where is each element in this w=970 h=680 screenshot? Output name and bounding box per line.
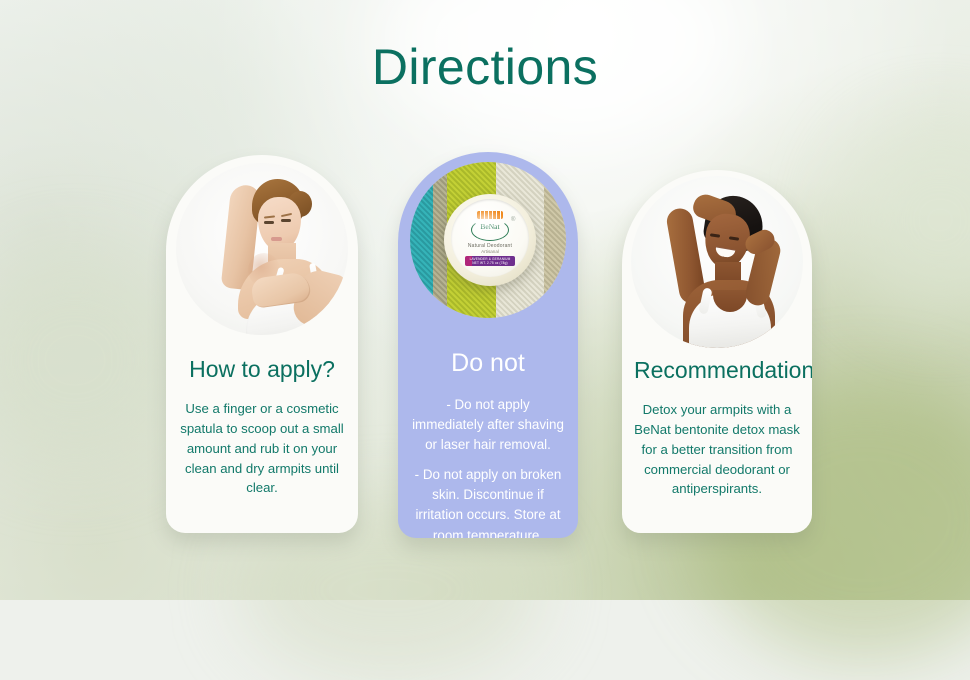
card-recommendation[interactable]: Recommendation Detox your armpits with a… xyxy=(622,170,812,533)
card-do-not[interactable]: ® BeNat Natural Deodorant Artisanal LAVE… xyxy=(398,152,578,538)
card-body-how-to-apply: How to apply? Use a finger or a cosmetic… xyxy=(166,357,358,498)
card-media-how-to-apply xyxy=(166,155,358,355)
directions-page: Directions xyxy=(0,0,970,600)
card-text: Detox your armpits with a BeNat bentonit… xyxy=(634,400,800,499)
registered-trademark-icon: ® xyxy=(511,217,515,223)
photo-eye xyxy=(281,219,291,222)
card-heading: Do not xyxy=(410,350,566,378)
card-heading: How to apply? xyxy=(178,357,346,382)
smiling-woman-photo xyxy=(631,176,803,348)
deodorant-jar-photo: ® BeNat Natural Deodorant Artisanal LAVE… xyxy=(410,162,566,318)
product-descriptor-secondary: Artisanal xyxy=(460,249,520,254)
card-text-line: - Do not apply on broken skin. Discontin… xyxy=(410,465,566,538)
mat-stripe xyxy=(410,162,433,318)
photo-eye xyxy=(264,221,274,224)
card-text-line: - Do not apply immediately after shaving… xyxy=(410,395,566,456)
photo-lips xyxy=(271,237,282,241)
card-media-do-not: ® BeNat Natural Deodorant Artisanal LAVE… xyxy=(398,152,578,348)
card-body-do-not: Do not - Do not apply immediately after … xyxy=(398,350,578,538)
card-text: - Do not apply immediately after shaving… xyxy=(410,395,566,539)
product-jar-lid: ® BeNat Natural Deodorant Artisanal LAVE… xyxy=(451,199,529,277)
jar-lid-highlight xyxy=(465,209,505,231)
card-text: Use a finger or a cosmetic spatula to sc… xyxy=(178,399,346,498)
product-label-band-text: LAVENDER & GERANIUM NET WT. 2.75 oz (78g… xyxy=(465,256,515,266)
product-jar: ® BeNat Natural Deodorant Artisanal LAVE… xyxy=(444,194,536,286)
card-body-recommendation: Recommendation Detox your armpits with a… xyxy=(622,358,812,499)
mat-stripe xyxy=(544,162,566,318)
card-media-recommendation xyxy=(622,170,812,356)
label-band-line-2: NET WT. 2.75 oz (78g) xyxy=(472,261,508,265)
card-how-to-apply[interactable]: How to apply? Use a finger or a cosmetic… xyxy=(166,155,358,533)
woman-raising-arm-photo xyxy=(176,163,348,335)
directions-card-list: How to apply? Use a finger or a cosmetic… xyxy=(0,0,970,600)
card-heading: Recommendation xyxy=(634,358,800,383)
